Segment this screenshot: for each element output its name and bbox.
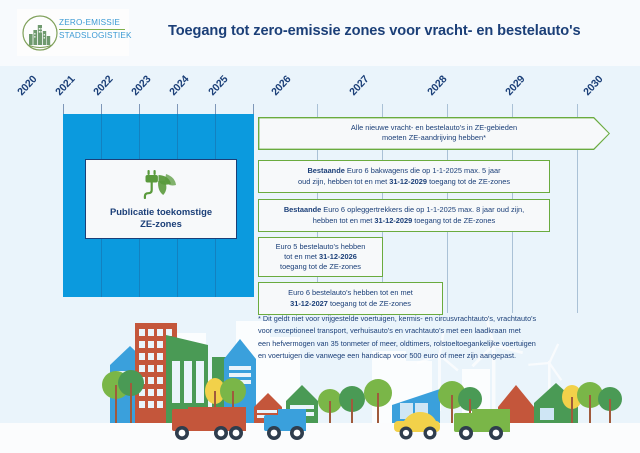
measure-box-euro5-bestelautos[interactable]: Euro 5 bestelauto's hebben tot en met 31…	[258, 237, 383, 277]
year-label-2030: 2030	[581, 73, 605, 98]
publication-label-line1: Publicatie toekomstige	[110, 206, 212, 217]
measure-text-alle-nieuwe: Alle nieuwe vracht- en bestelauto's in Z…	[345, 123, 523, 143]
measure-3-plain3: toegang tot de ZE-zones	[280, 262, 361, 271]
measure-1-plain2: oud zijn, hebben tot en met	[298, 177, 389, 186]
measure-1-bold2: 31-12-2029	[389, 177, 427, 186]
year-label-2027: 2027	[347, 73, 371, 98]
logo-wordmark: ZERO-EMISSIE STADSLOGISTIEK	[59, 18, 127, 40]
measure-0-line1: Alle nieuwe vracht- en bestelauto's in Z…	[351, 123, 517, 132]
measure-box-euro6-bestelautos[interactable]: Euro 6 bestelauto's hebben tot en met 31…	[258, 282, 443, 315]
publication-card: Publicatie toekomstige ZE-zones	[85, 159, 237, 239]
blue-period-block-2020-2025: Publicatie toekomstige ZE-zones	[63, 114, 254, 297]
measure-4-bold2: 31-12-2027	[290, 299, 328, 308]
year-label-2022: 2022	[91, 73, 115, 98]
infographic-canvas: 2020 2021 2022 2023 2024 2025 2026 2027 …	[0, 0, 640, 453]
tick-2022	[139, 104, 140, 114]
measure-0-line2: moeten ZE-aandrijving hebben*	[382, 133, 486, 142]
year-label-2029: 2029	[503, 73, 527, 98]
year-label-2024: 2024	[167, 73, 191, 98]
tick-2024	[215, 104, 216, 114]
year-label-2025: 2025	[206, 73, 230, 98]
logo-divider	[59, 29, 125, 30]
tick-2020	[63, 104, 64, 114]
year-label-2026: 2026	[269, 73, 293, 98]
tick-2025	[253, 104, 254, 114]
header-bar: ZERO-EMISSIE STADSLOGISTIEK Toegang tot …	[0, 0, 640, 66]
measure-1-plain3: toegang tot de ZE-zones	[427, 177, 510, 186]
tick-2023	[177, 104, 178, 114]
measure-text-euro6-opleggertrekkers: Bestaande Euro 6 opleggertrekkers die op…	[278, 205, 530, 225]
measure-3-bold2: 31-12-2026	[319, 252, 357, 261]
publication-label-line2: ZE-zones	[140, 218, 182, 229]
year-label-2021: 2021	[53, 73, 77, 98]
measure-4-plain1: Euro 6 bestelauto's hebben tot en met	[288, 288, 413, 297]
measure-2-plain1: Euro 6 opleggertrekkers die op 1-1-2025 …	[321, 205, 524, 214]
logo-line-1: ZERO-EMISSIE	[59, 18, 127, 27]
year-label-2023: 2023	[129, 73, 153, 98]
year-label-2028: 2028	[425, 73, 449, 98]
measure-box-euro6-bakwagens[interactable]: Bestaande Euro 6 bakwagens die op 1-1-20…	[258, 160, 550, 193]
page-title: Toegang tot zero-emissie zones voor vrac…	[168, 23, 598, 39]
measure-2-plain2: hebben tot en met	[313, 216, 375, 225]
measure-1-bold1: Bestaande	[307, 166, 344, 175]
plug-leaf-icon	[143, 169, 179, 204]
measure-text-euro6-bestelautos: Euro 6 bestelauto's hebben tot en met 31…	[282, 288, 419, 308]
footnote-line-1: * Dit geldt niet voor vrijgestelde voert…	[258, 313, 610, 325]
logo-line-2: STADSLOGISTIEK	[59, 31, 127, 40]
footnote-line-4: en voertuigen die vanwege een handicap v…	[258, 350, 610, 362]
city-skyline-circle-icon	[21, 14, 59, 52]
measure-4-plain3: toegang tot de ZE-zones	[328, 299, 411, 308]
footnote-text: * Dit geldt niet voor vrijgestelde voert…	[258, 313, 610, 363]
measure-3-plain2: tot en met	[284, 252, 319, 261]
measure-2-plain3: toegang tot de ZE-zones	[412, 216, 495, 225]
measure-2-bold1: Bestaande	[284, 205, 321, 214]
tick-2021	[101, 104, 102, 114]
footnote-line-3: een hefvermogen van 35 tonmeter of meer,…	[258, 338, 610, 350]
year-label-2020: 2020	[15, 73, 39, 98]
measure-1-plain1: Euro 6 bakwagens die op 1-1-2025 max. 5 …	[345, 166, 501, 175]
measure-text-euro5-bestelautos: Euro 5 bestelauto's hebben tot en met 31…	[270, 242, 372, 273]
measure-2-bold2: 31-12-2029	[374, 216, 412, 225]
measure-box-euro6-opleggertrekkers[interactable]: Bestaande Euro 6 opleggertrekkers die op…	[258, 199, 550, 232]
publication-card-label: Publicatie toekomstige ZE-zones	[110, 206, 212, 229]
measure-text-euro6-bakwagens: Bestaande Euro 6 bakwagens die op 1-1-20…	[292, 166, 516, 186]
measure-box-alle-nieuwe[interactable]: Alle nieuwe vracht- en bestelauto's in Z…	[258, 117, 610, 150]
footnote-line-2: voor exceptioneel transport, verhuisauto…	[258, 325, 610, 337]
logo[interactable]: ZERO-EMISSIE STADSLOGISTIEK	[17, 9, 129, 56]
measure-3-plain1: Euro 5 bestelauto's hebben	[276, 242, 366, 251]
